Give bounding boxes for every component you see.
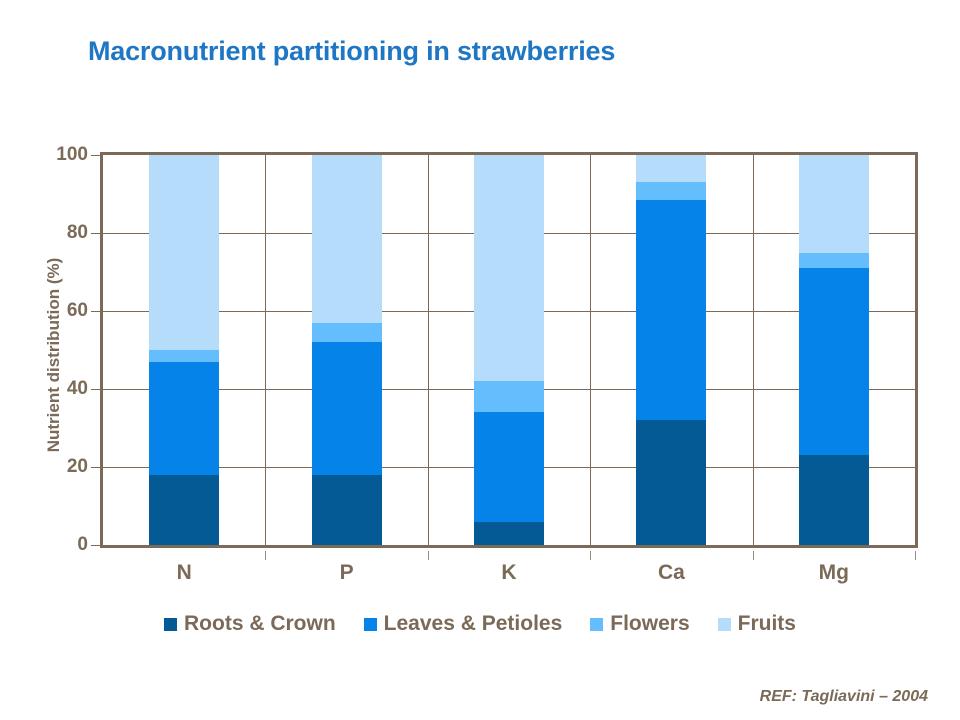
legend-item-fruits[interactable]: Fruits <box>718 612 796 636</box>
bar-Ca[interactable] <box>636 155 706 545</box>
chart-root: Macronutrient partitioning in strawberri… <box>0 0 960 720</box>
bar-segment-Mg-leaves-petioles[interactable] <box>799 268 869 455</box>
x-axis-tick-mark <box>915 551 916 560</box>
bar-segment-P-flowers[interactable] <box>312 323 382 343</box>
legend-swatch-roots-crown <box>164 618 177 631</box>
bar-segment-P-leaves-petioles[interactable] <box>312 342 382 475</box>
bar-Mg[interactable] <box>799 155 869 545</box>
y-axis-tick-label: 40 <box>28 378 88 400</box>
legend-label-roots-crown: Roots & Crown <box>184 612 336 636</box>
bar-segment-Ca-leaves-petioles[interactable] <box>636 200 706 420</box>
bar-segment-Mg-flowers[interactable] <box>799 253 869 269</box>
chart-title: Macronutrient partitioning in strawberri… <box>88 36 615 67</box>
bar-segment-K-flowers[interactable] <box>474 381 544 412</box>
bar-segment-Ca-fruits[interactable] <box>636 155 706 182</box>
bar-segment-Mg-roots-crown[interactable] <box>799 455 869 545</box>
x-axis-label-Mg: Mg <box>774 561 894 585</box>
bar-segment-P-fruits[interactable] <box>312 155 382 323</box>
bar-segment-N-flowers[interactable] <box>149 350 219 362</box>
y-axis-tick-mark <box>91 389 100 390</box>
vertical-gridline <box>428 155 429 545</box>
bar-P[interactable] <box>312 155 382 545</box>
x-axis-tick-mark <box>265 551 266 560</box>
vertical-gridline <box>753 155 754 545</box>
bar-segment-Ca-roots-crown[interactable] <box>636 420 706 545</box>
bar-segment-P-roots-crown[interactable] <box>312 475 382 545</box>
y-axis-tick-label: 20 <box>28 456 88 478</box>
reference-note: REF: Tagliavini – 2004 <box>760 688 928 706</box>
bar-segment-Mg-fruits[interactable] <box>799 155 869 253</box>
y-axis-tick-label: 60 <box>28 300 88 322</box>
legend-swatch-fruits <box>718 618 731 631</box>
y-axis-tick-mark <box>91 155 100 156</box>
legend-item-leaves-petioles[interactable]: Leaves & Petioles <box>364 612 563 636</box>
legend-swatch-flowers <box>590 618 603 631</box>
legend-item-flowers[interactable]: Flowers <box>590 612 689 636</box>
bar-segment-Ca-flowers[interactable] <box>636 182 706 200</box>
x-axis-label-Ca: Ca <box>611 561 731 585</box>
y-axis-tick-mark <box>91 545 100 546</box>
bar-N[interactable] <box>149 155 219 545</box>
x-axis-label-P: P <box>287 561 407 585</box>
legend-label-fruits: Fruits <box>738 612 796 636</box>
y-axis-tick-mark <box>91 233 100 234</box>
bar-segment-K-fruits[interactable] <box>474 155 544 381</box>
x-axis-label-N: N <box>124 561 244 585</box>
bar-K[interactable] <box>474 155 544 545</box>
legend-item-roots-crown[interactable]: Roots & Crown <box>164 612 336 636</box>
x-axis-tick-mark <box>590 551 591 560</box>
bar-segment-K-leaves-petioles[interactable] <box>474 412 544 521</box>
vertical-gridline <box>590 155 591 545</box>
bar-segment-N-leaves-petioles[interactable] <box>149 362 219 475</box>
bar-segment-K-roots-crown[interactable] <box>474 522 544 545</box>
x-axis-tick-mark <box>428 551 429 560</box>
y-axis-tick-mark <box>91 311 100 312</box>
y-axis-tick-mark <box>91 467 100 468</box>
x-axis-label-K: K <box>449 561 569 585</box>
vertical-gridline <box>265 155 266 545</box>
y-axis-title: Nutrient distribution (%) <box>44 225 64 485</box>
legend-swatch-leaves-petioles <box>364 618 377 631</box>
legend-label-leaves-petioles: Leaves & Petioles <box>384 612 563 636</box>
bar-segment-N-fruits[interactable] <box>149 155 219 350</box>
y-axis-tick-label: 0 <box>28 534 88 556</box>
bar-segment-N-roots-crown[interactable] <box>149 475 219 545</box>
y-axis-tick-label: 100 <box>28 144 88 166</box>
legend-label-flowers: Flowers <box>610 612 689 636</box>
chart-legend: Roots & CrownLeaves & PetiolesFlowersFru… <box>0 612 960 636</box>
y-axis-tick-label: 80 <box>28 222 88 244</box>
plot-area <box>100 152 918 548</box>
x-axis-tick-mark <box>753 551 754 560</box>
